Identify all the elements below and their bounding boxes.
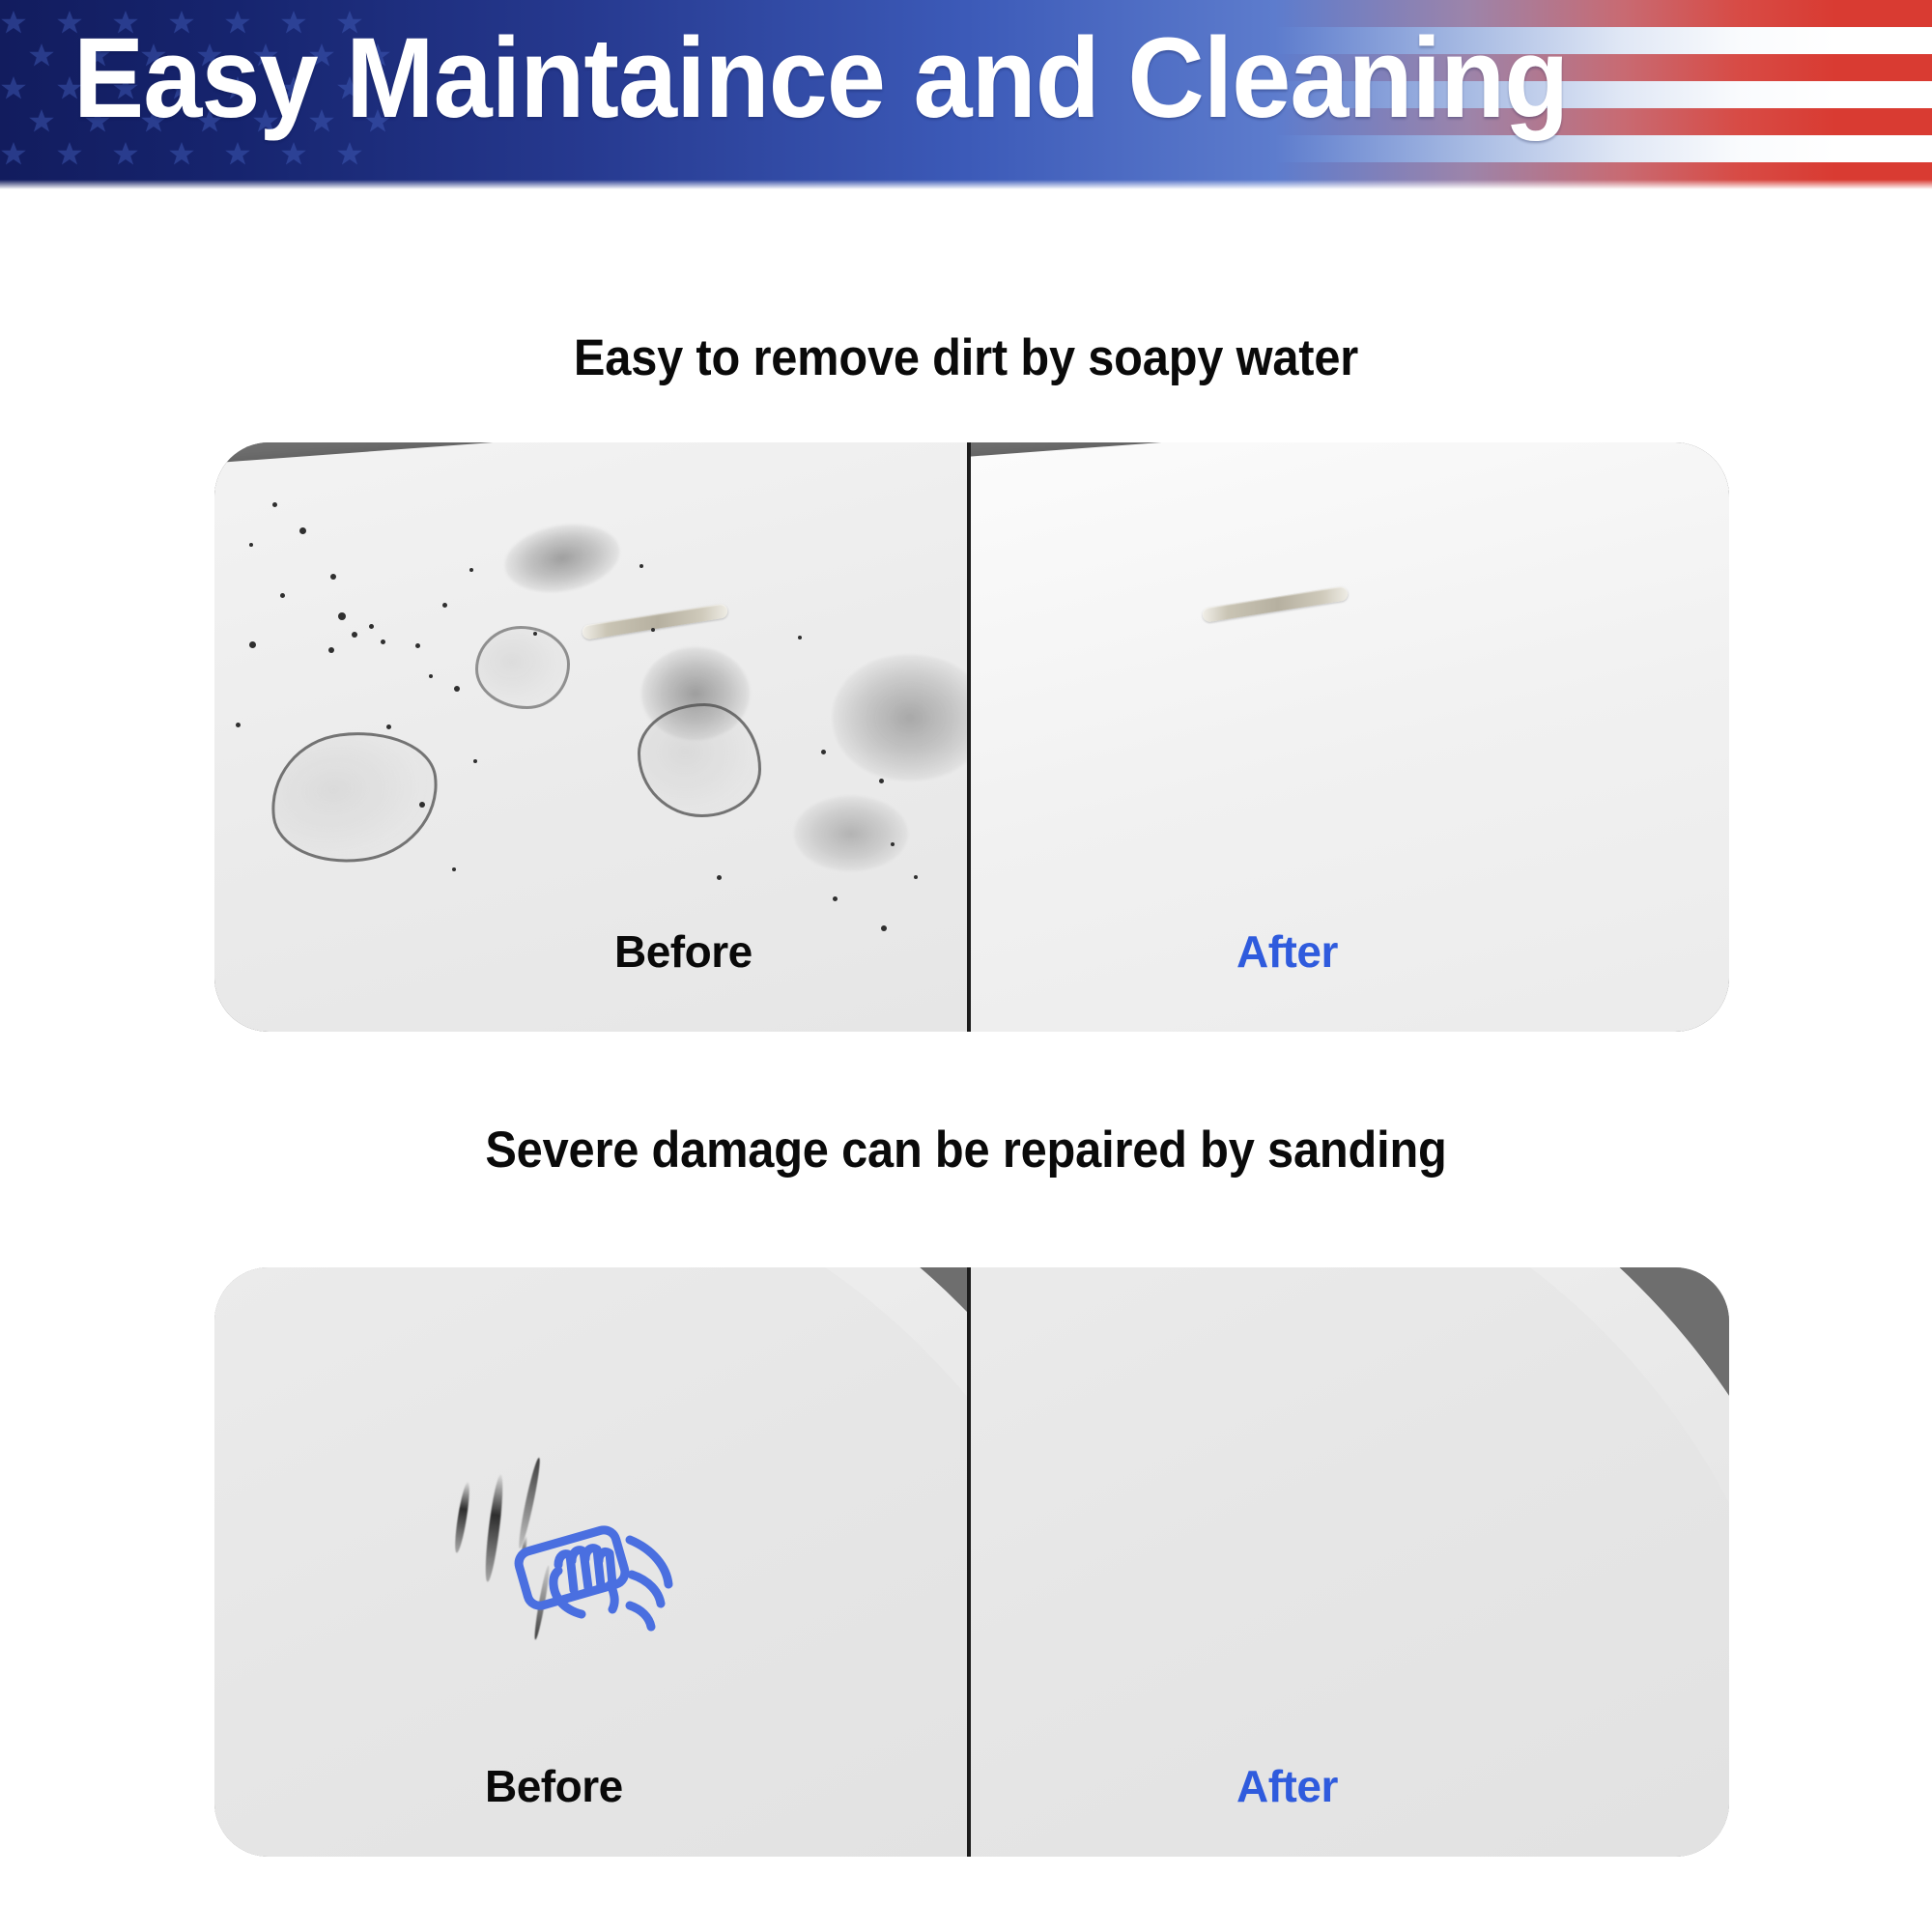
dirt-speck: [914, 875, 918, 879]
panel-divider: [967, 442, 971, 1032]
after-label: After: [1236, 925, 1338, 978]
dirt-stain: [475, 626, 570, 709]
before-photo-sanding: Before: [214, 1267, 968, 1857]
before-label: Before: [614, 925, 753, 978]
dirt-speck: [833, 896, 838, 901]
dirt-speck: [429, 674, 433, 678]
dirt-speck: [338, 612, 346, 620]
dirt-speck: [386, 724, 391, 729]
before-photo-cleaning: Before: [214, 442, 968, 1032]
dirt-speck: [280, 593, 285, 598]
panel-divider: [967, 1267, 971, 1857]
section-heading-cleaning: Easy to remove dirt by soapy water: [77, 328, 1855, 387]
dirt-speck: [249, 543, 253, 547]
dirt-speck: [881, 925, 887, 931]
dirt-speck: [454, 686, 460, 692]
hand-wiping-cloth-icon: [514, 1501, 707, 1665]
dirt-speck: [891, 842, 895, 846]
dirt-speck: [798, 636, 802, 639]
dirt-speck: [879, 779, 884, 783]
banner-bottom-fade: [0, 180, 1932, 189]
section-heading-sanding: Severe damage can be repaired by sanding: [77, 1121, 1855, 1179]
dirt-speck: [415, 643, 420, 648]
dirt-speck: [651, 628, 655, 632]
tub-surface-clean: [970, 442, 1729, 1032]
dirt-speck: [299, 527, 306, 534]
comparison-panel-sanding: Before After: [214, 1267, 1729, 1857]
dirt-speck: [717, 875, 722, 880]
dirt-speck: [821, 750, 826, 754]
dirt-speck: [352, 632, 357, 638]
dirt-speck: [419, 802, 425, 808]
dirt-speck: [328, 647, 334, 653]
dirt-speck: [452, 867, 456, 871]
dirt-speck: [369, 624, 374, 629]
dirt-speck: [236, 723, 241, 727]
dirt-speck: [469, 568, 473, 572]
comparison-panel-cleaning: Before After: [214, 442, 1729, 1032]
page-title: Easy Maintaince and Cleaning: [73, 6, 1568, 151]
dirt-speck: [381, 639, 385, 644]
after-photo-cleaning: After: [970, 442, 1729, 1032]
dirt-speck: [272, 502, 277, 507]
flag-banner: Easy Maintaince and Cleaning: [0, 0, 1932, 189]
after-photo-sanding: After: [970, 1267, 1729, 1857]
dirt-speck: [533, 632, 537, 636]
dirt-smudge: [794, 796, 908, 871]
after-label: After: [1236, 1760, 1338, 1812]
dirt-speck: [249, 641, 256, 648]
dirt-speck: [639, 564, 643, 568]
dirt-speck: [442, 603, 447, 608]
tub-rim-inner: [970, 1267, 1729, 1857]
dirt-speck: [473, 759, 477, 763]
dirt-smudge: [833, 655, 968, 781]
dirt-speck: [330, 574, 336, 580]
before-label: Before: [485, 1760, 623, 1812]
